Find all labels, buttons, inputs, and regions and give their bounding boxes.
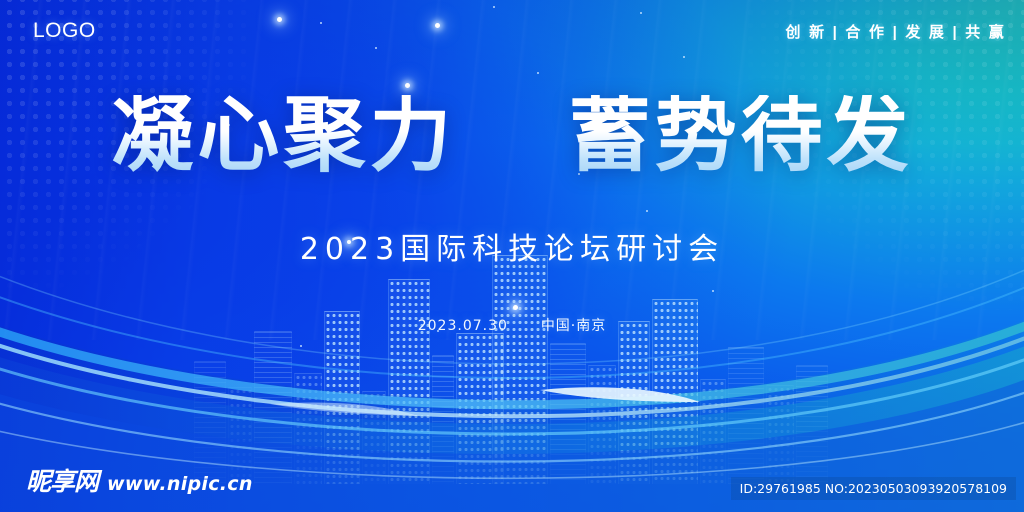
sparkle-dot xyxy=(277,17,282,22)
headline-part-2: 蓄势待发 xyxy=(569,88,913,183)
sparkle-dot xyxy=(513,305,518,310)
event-meta: 2023.07.30 中国·南京 xyxy=(0,315,1024,335)
image-id-badge: ID:29761985 NO:20230503093920578109 xyxy=(731,477,1016,500)
event-poster: LOGO 创 新 | 合 作 | 发 展 | 共 赢 凝心聚力 蓄势待发 202… xyxy=(0,0,1024,512)
watermark-brand: 昵享网 xyxy=(26,462,98,498)
sparkle-dot xyxy=(683,56,685,58)
sparkle-dot xyxy=(435,23,440,28)
headline-part-1: 凝心聚力 xyxy=(111,88,455,183)
watermark-url: www.nipic.cn xyxy=(107,473,253,495)
sparkle-dot xyxy=(300,345,302,347)
sparkle-dot xyxy=(640,12,642,14)
watermark: 昵享网 www.nipic.cn xyxy=(26,462,253,498)
logo-text[interactable]: LOGO xyxy=(33,19,96,43)
sparkle-dot xyxy=(712,290,714,292)
sparkle-dot xyxy=(537,72,539,74)
sparkle-dot xyxy=(646,210,648,212)
headline: 凝心聚力 蓄势待发 xyxy=(0,95,1024,177)
sparkle-dot xyxy=(493,6,495,8)
slogan-text: 创 新 | 合 作 | 发 展 | 共 赢 xyxy=(786,21,1006,42)
event-location: 中国·南京 xyxy=(541,318,606,334)
event-date: 2023.07.30 xyxy=(418,318,508,334)
sparkle-dot xyxy=(320,22,322,24)
sparkle-dot xyxy=(375,47,377,49)
subtitle: 2023国际科技论坛研讨会 xyxy=(0,224,1024,268)
